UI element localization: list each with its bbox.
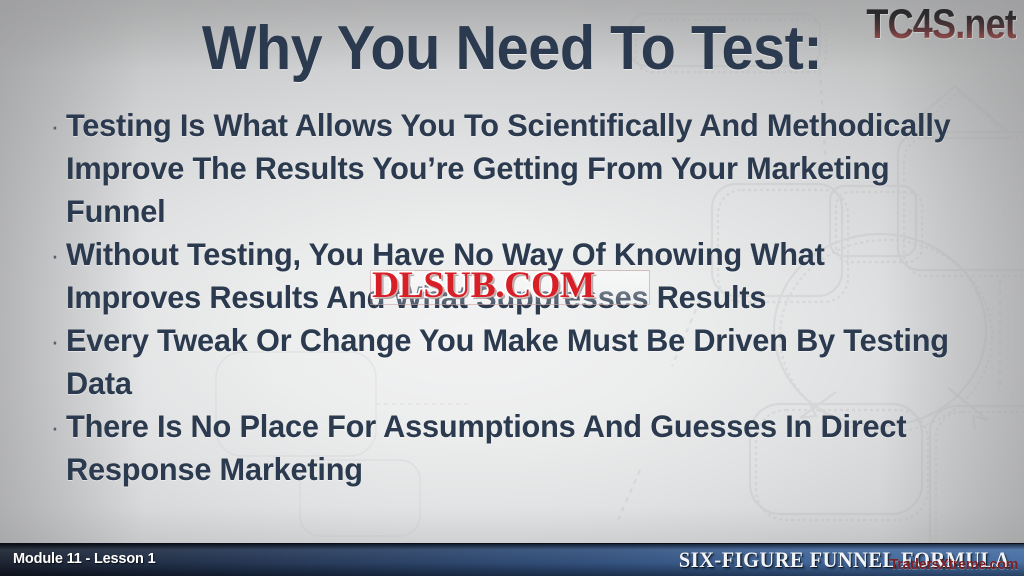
lesson-label: Module 11 - Lesson 1: [13, 550, 155, 567]
bullet-text: Every Tweak Or Change You Make Must Be D…: [66, 319, 965, 405]
list-item: · There Is No Place For Assumptions And …: [44, 405, 988, 491]
presentation-slide: Why You Need To Test: · Testing Is What …: [0, 0, 1024, 576]
bullet-text: There Is No Place For Assumptions And Gu…: [66, 405, 965, 491]
slide-title: Why You Need To Test:: [36, 16, 988, 83]
bullet-text: Testing Is What Allows You To Scientific…: [66, 104, 965, 233]
bullet-dot-icon: ·: [44, 233, 66, 277]
list-item: · Every Tweak Or Change You Make Must Be…: [44, 319, 988, 405]
bullet-dot-icon: ·: [44, 104, 66, 148]
footer-watermark: TradersXtreme.com: [890, 556, 1018, 573]
slide-footer-bar: Module 11 - Lesson 1 SIX-FIGURE FUNNEL F…: [0, 543, 1024, 576]
bullet-dot-icon: ·: [44, 405, 66, 449]
bullet-dot-icon: ·: [44, 319, 66, 363]
top-right-watermark: TC4S.net: [866, 2, 1016, 46]
list-item: · Testing Is What Allows You To Scientif…: [44, 104, 988, 233]
center-watermark: DLSUB.COM: [372, 268, 595, 304]
